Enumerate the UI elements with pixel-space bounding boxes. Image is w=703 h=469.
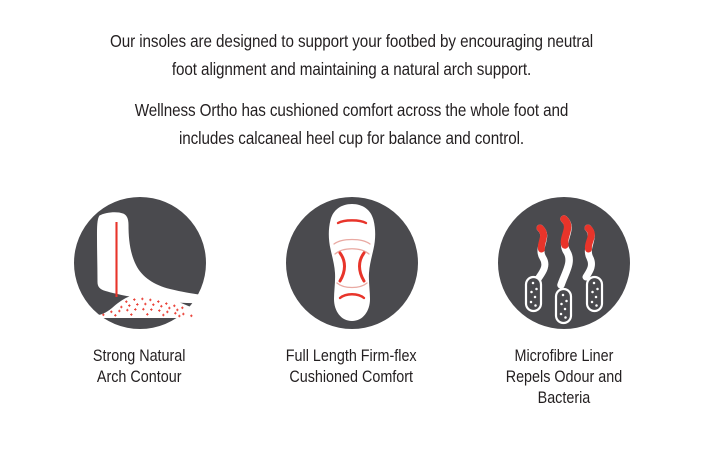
- feature-item-firm-flex: Full Length Firm-flex Cushioned Comfort: [246, 197, 458, 388]
- feature-caption-2-line-1: Full Length Firm-flex: [286, 346, 417, 367]
- feature-caption-3-line-3: Bacteria: [505, 388, 622, 409]
- feature-badge-2: [286, 197, 418, 329]
- feature-caption-1: Strong Natural Arch Contour: [86, 346, 192, 388]
- feature-badge-3: [498, 197, 630, 329]
- intro-paragraph-1-line-2: foot alignment and maintaining a natural…: [46, 55, 658, 83]
- intro-paragraph-2-line-1: Wellness Ortho has cushioned comfort acr…: [46, 96, 658, 124]
- feature-caption-2: Full Length Firm-flex Cushioned Comfort: [276, 346, 426, 388]
- odour-wave-center-tip: [564, 219, 568, 245]
- feature-badge-1: [74, 197, 206, 329]
- feature-list: Strong Natural Arch Contour: [0, 197, 703, 409]
- feature-caption-2-line-2: Cushioned Comfort: [286, 367, 417, 388]
- feature-caption-3: Microfibre Liner Repels Odour and Bacter…: [497, 346, 631, 409]
- feature-caption-1-line-2: Arch Contour: [93, 367, 186, 388]
- odour-wave-right-tip: [588, 228, 591, 249]
- feature-caption-1-line-1: Strong Natural: [93, 346, 186, 367]
- feature-item-odour-bacteria: Microfibre Liner Repels Odour and Bacter…: [458, 197, 670, 409]
- product-feature-panel: Our insoles are designed to support your…: [0, 0, 703, 469]
- intro-paragraph-2: Wellness Ortho has cushioned comfort acr…: [0, 96, 703, 152]
- intro-paragraph-1-line-1: Our insoles are designed to support your…: [46, 27, 658, 55]
- feature-item-arch-contour: Strong Natural Arch Contour: [34, 197, 246, 388]
- odour-wave-left-tip: [540, 228, 544, 249]
- intro-paragraph-1: Our insoles are designed to support your…: [0, 27, 703, 83]
- feature-caption-3-line-2: Repels Odour and: [505, 367, 622, 388]
- feature-caption-3-line-1: Microfibre Liner: [505, 346, 622, 367]
- intro-paragraph-2-line-2: includes calcaneal heel cup for balance …: [46, 124, 658, 152]
